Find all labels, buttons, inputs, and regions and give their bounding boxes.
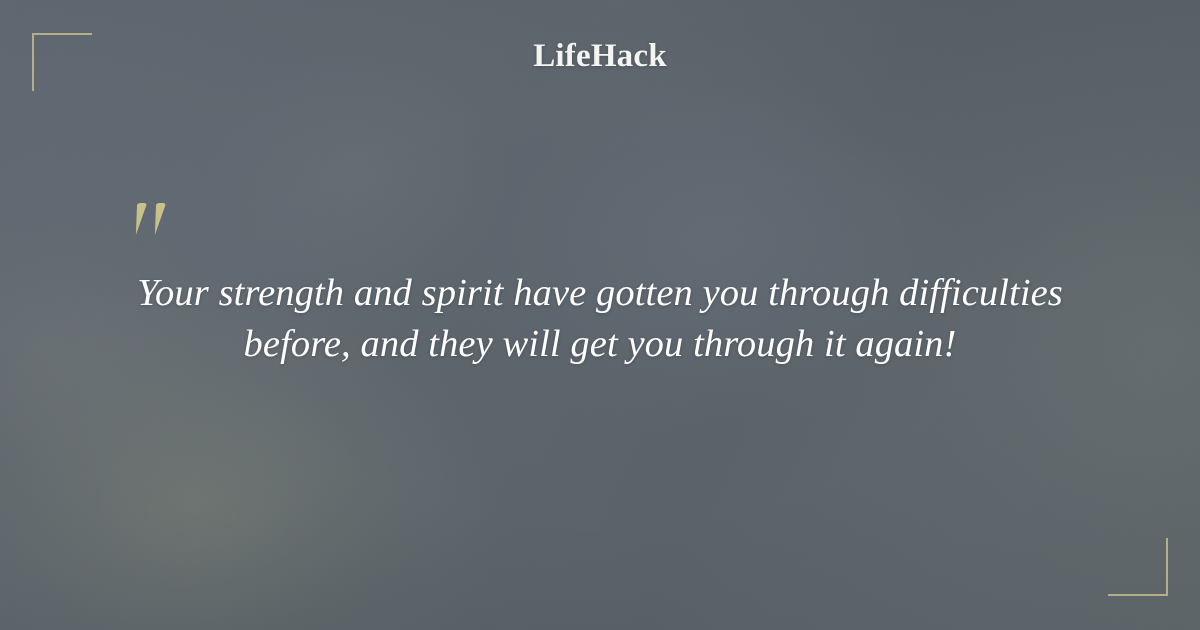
double-quote-stroke-right: [150, 203, 166, 235]
quote-block: Your strength and spirit have gotten you…: [100, 268, 1100, 370]
double-quote-icon: [131, 199, 177, 243]
corner-bracket-top-left-horizontal: [32, 33, 92, 35]
double-quote-stroke-left: [131, 203, 147, 235]
brand-logo: LifeHack: [0, 40, 1200, 73]
corner-bracket-bottom-right-vertical: [1166, 538, 1168, 596]
quote-card: LifeHack Your strength and spirit have g…: [0, 0, 1200, 630]
quote-text: Your strength and spirit have gotten you…: [100, 268, 1100, 370]
corner-bracket-bottom-right-icon: [1108, 538, 1168, 596]
corner-bracket-bottom-right-horizontal: [1108, 594, 1168, 596]
